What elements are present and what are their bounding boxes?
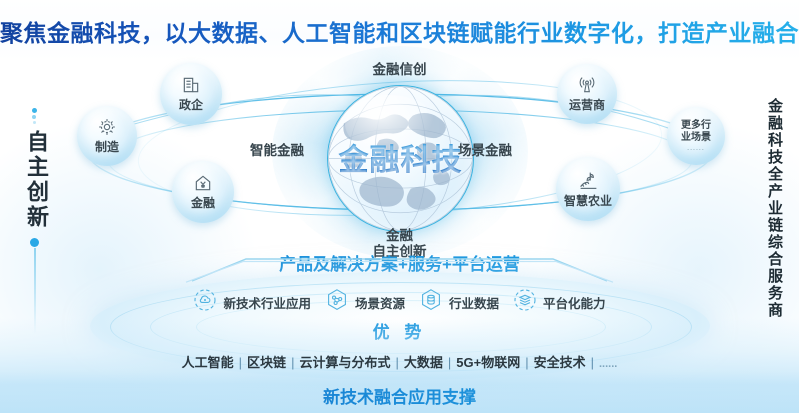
building-icon	[181, 75, 201, 95]
node-zhengqi[interactable]: 政企	[160, 63, 222, 125]
advantage-item-scene-resources[interactable]: 场景资源	[325, 288, 405, 317]
tech-separator: |	[395, 355, 398, 370]
tech-item[interactable]: 大数据	[404, 355, 443, 370]
infographic-root: 聚焦金融科技，以大数据、人工智能和区块链赋能行业数字化，打造产业融合新生态 自主…	[0, 0, 799, 413]
node-label-line2: 业场景	[681, 132, 711, 144]
tech-separator: |	[448, 355, 451, 370]
tech-separator: |	[525, 355, 528, 370]
node-label: 运营商	[569, 96, 605, 113]
advantages-row: 新技术行业应用 场景资源 行业数据	[0, 288, 799, 317]
tech-item[interactable]: 云计算与分布式	[299, 355, 390, 370]
tech-ellipsis: ......	[599, 358, 617, 370]
antenna-icon	[577, 75, 597, 95]
node-yunyingshang[interactable]: 运营商	[557, 64, 617, 124]
advantage-label: 平台化能力	[543, 293, 606, 312]
left-dots-top	[29, 108, 39, 126]
right-vertical-label: 金融科技全产业链综合服务商	[764, 98, 785, 319]
node-zhizao[interactable]: 制造	[77, 106, 137, 166]
advantage-item-industry-data[interactable]: 行业数据	[419, 288, 499, 317]
advantage-label: 行业数据	[449, 293, 499, 312]
tech-item[interactable]: 安全技术	[534, 355, 586, 370]
node-label-line1: 更多行	[681, 120, 711, 132]
node-more-scenes[interactable]: 更多行 业场景 ......	[667, 107, 725, 165]
gear-icon	[97, 117, 117, 137]
bank-yuan-icon	[193, 173, 213, 193]
hex-network-icon	[325, 288, 349, 317]
advantage-item-new-tech[interactable]: 新技术行业应用	[193, 288, 311, 317]
tech-items-row: 人工智能|区块链|云计算与分布式|大数据|5G+物联网|安全技术|......	[0, 352, 799, 371]
node-label: 金融	[191, 194, 215, 211]
hex-database-icon	[419, 288, 443, 317]
tech-separator: |	[591, 355, 594, 370]
central-globe: 金融科技	[327, 85, 474, 232]
agriculture-icon	[578, 170, 599, 191]
support-title: 新技术融合应用支撑	[0, 383, 799, 408]
advantage-label: 场景资源	[355, 293, 405, 312]
node-label: 制造	[95, 138, 119, 155]
node-zhihui-nongye[interactable]: 智慧农业	[556, 157, 620, 221]
tech-separator: |	[291, 355, 294, 370]
tech-item[interactable]: 5G+物联网	[456, 355, 520, 370]
layers-circle-icon	[513, 288, 537, 317]
advantage-label: 新技术行业应用	[223, 293, 311, 312]
advantage-item-platform-capability[interactable]: 平台化能力	[513, 288, 606, 317]
tech-separator: |	[239, 355, 242, 370]
tech-item[interactable]: 区块链	[247, 355, 286, 370]
tech-item[interactable]: 人工智能	[182, 355, 234, 370]
globe-label-left: 智能金融	[250, 139, 304, 159]
left-vertical-label: 自主创新	[20, 130, 52, 230]
node-ellipsis: ......	[687, 145, 705, 152]
node-label: 政企	[179, 96, 203, 113]
cloud-circle-icon	[193, 288, 217, 317]
globe-label-top: 金融信创	[0, 58, 799, 78]
node-label: 智慧农业	[564, 192, 612, 209]
globe-core-label: 金融科技	[327, 135, 474, 179]
node-jinrong[interactable]: 金融	[172, 161, 234, 223]
